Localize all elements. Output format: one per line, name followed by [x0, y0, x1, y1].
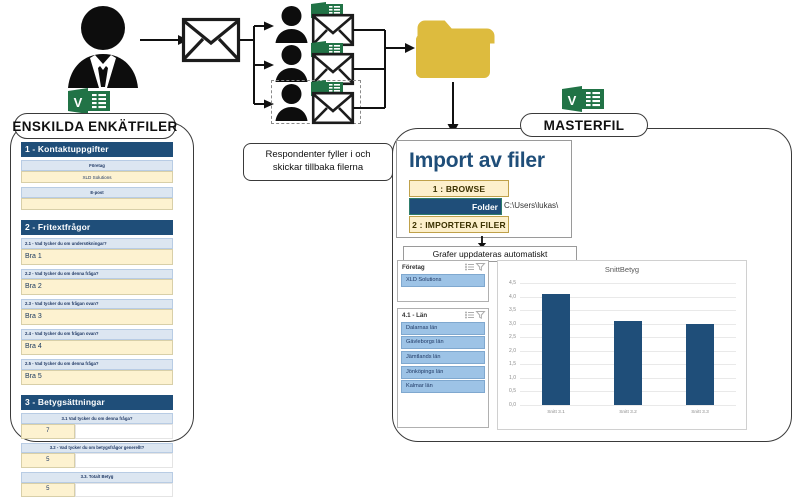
- field-label-foretag: Företag: [21, 160, 173, 171]
- form-field-3-2: 3.2 - Vad tycker du om betygsfrågor gene…: [21, 443, 173, 468]
- chart-x-tick: Snitt 3.2: [592, 410, 664, 415]
- form-field-2-4: 2.4 - Vad tycker du om frågan ovan? Bra …: [21, 329, 173, 355]
- chart-y-tick: 4,0: [500, 294, 516, 300]
- field-label-epost: E-post: [21, 187, 173, 198]
- flow-caption-line1: Respondenter fyller i och: [248, 149, 388, 162]
- field-value-3-2[interactable]: 5: [21, 453, 75, 467]
- survey-form: 1 - Kontaktuppgifter Företag XLD Solutio…: [21, 142, 173, 497]
- slicer-lan-title: 4.1 - Län: [402, 312, 463, 319]
- chart-bar[interactable]: [614, 321, 643, 405]
- chart-gridline: [520, 405, 736, 406]
- recipient-1: [275, 5, 308, 43]
- right-panel-excel-file-icon: V: [562, 86, 604, 112]
- field-spacer-3-2: [75, 453, 173, 467]
- folder-icon: [414, 16, 492, 84]
- form-field-2-1: 2.1 - Vad tycker du om undersökningar? B…: [21, 238, 173, 264]
- recipient-3: [275, 83, 308, 121]
- chart-y-tick: 1,0: [500, 375, 516, 381]
- flow-arrow-sender-to-mail: [140, 34, 188, 46]
- form-field-foretag: Företag XLD Solutions: [21, 160, 173, 183]
- snittbetyg-chart[interactable]: SnittBetyg 0,00,51,01,52,02,53,03,54,04,…: [497, 260, 747, 430]
- chart-y-tick: 2,0: [500, 348, 516, 354]
- field-label-2-1: 2.1 - Vad tycker du om undersökningar?: [21, 238, 173, 249]
- import-files-button[interactable]: 2 : IMPORTERA FILER: [409, 216, 509, 233]
- chart-bar[interactable]: [542, 294, 571, 405]
- slicer-item-kalmar-lan[interactable]: Kalmar län: [401, 380, 485, 393]
- slicer-lan[interactable]: 4.1 - Län Dalarnas län Gävleborgs län Jä…: [397, 308, 489, 428]
- diagram-canvas: Respondenter fyller i och skickar tillba…: [0, 0, 800, 451]
- form-field-epost: E-post: [21, 187, 173, 210]
- slicer-item-dalarnas-lan[interactable]: Dalarnas län: [401, 322, 485, 335]
- chart-x-tick: Snitt 3.1: [520, 410, 592, 415]
- outgoing-envelope-icon: [182, 18, 240, 62]
- field-spacer-3-3: [75, 483, 173, 497]
- right-panel-badge-label: MASTERFIL: [544, 118, 625, 133]
- form-field-2-3: 2.3 - Vad tycker du om frågan ovan? Bra …: [21, 299, 173, 325]
- chart-plot-area: [520, 283, 736, 405]
- right-panel-badge: MASTERFIL: [520, 113, 648, 137]
- field-value-2-1[interactable]: Bra 1: [21, 249, 173, 264]
- import-title: Import av filer: [397, 141, 571, 178]
- svg-text:V: V: [74, 95, 83, 110]
- chart-x-tick: Snitt 3.3: [664, 410, 736, 415]
- recipient-2: [275, 44, 308, 82]
- field-label-3-1: 3.1 Vad tycker du om denna fråga?: [21, 413, 173, 424]
- form-section-header-1: 1 - Kontaktuppgifter: [21, 142, 173, 157]
- form-field-3-3: 3.3. Totalt Betyg 5: [21, 472, 173, 497]
- field-label-3-2: 3.2 - Vad tycker du om betygsfrågor gene…: [21, 443, 173, 454]
- folder-label: Folder: [409, 198, 502, 215]
- chart-y-tick: 4,5: [500, 280, 516, 286]
- left-panel-badge: ENSKILDA ENKÄTFILER: [14, 113, 176, 139]
- multi-select-icon[interactable]: [465, 263, 474, 271]
- svg-text:V: V: [568, 93, 577, 108]
- flow-merge-connector: [353, 18, 415, 110]
- form-field-2-2: 2.2 - Vad tycker du om denna fråga? Bra …: [21, 269, 173, 295]
- chart-y-tick: 3,0: [500, 321, 516, 327]
- multi-select-icon[interactable]: [465, 311, 474, 319]
- form-field-2-5: 2.5 - Vad tycker du om denna fråga? Bra …: [21, 359, 173, 385]
- chart-y-tick: 0,0: [500, 402, 516, 408]
- field-spacer-3-1: [75, 424, 173, 438]
- chart-gridline: [520, 283, 736, 284]
- field-value-2-3[interactable]: Bra 3: [21, 309, 173, 324]
- form-field-3-1: 3.1 Vad tycker du om denna fråga? 7: [21, 413, 173, 438]
- field-value-foretag[interactable]: XLD Solutions: [21, 171, 173, 183]
- flow-arrow-folder-to-import: [446, 82, 460, 134]
- field-value-2-2[interactable]: Bra 2: [21, 279, 173, 294]
- field-label-2-3: 2.3 - Vad tycker du om frågan ovan?: [21, 299, 173, 310]
- form-section-header-2: 2 - Fritextfrågor: [21, 220, 173, 235]
- chart-y-tick: 0,5: [500, 388, 516, 394]
- flow-caption-line2: skickar tillbaka filerna: [248, 162, 388, 175]
- flow-caption: Respondenter fyller i och skickar tillba…: [243, 143, 393, 181]
- sender-person-icon: [62, 4, 144, 96]
- slicer-item-jonkopings-lan[interactable]: Jönköpings län: [401, 366, 485, 379]
- slicer-item-jamtlands-lan[interactable]: Jämtlands län: [401, 351, 485, 364]
- slicer-foretag-title: Företag: [402, 264, 463, 271]
- field-value-3-1[interactable]: 7: [21, 424, 75, 438]
- field-label-3-3: 3.3. Totalt Betyg: [21, 472, 173, 483]
- import-card: Import av filer 1 : BROWSE Folder C:\Use…: [396, 140, 572, 238]
- slicer-item-xld-solutions[interactable]: XLD Solutions: [401, 274, 485, 287]
- clear-filter-icon[interactable]: [476, 263, 485, 271]
- field-label-2-5: 2.5 - Vad tycker du om denna fråga?: [21, 359, 173, 370]
- chart-y-tick: 3,5: [500, 307, 516, 313]
- field-value-epost[interactable]: [21, 198, 173, 210]
- chart-title: SnittBetyg: [498, 261, 746, 274]
- chart-bar[interactable]: [686, 324, 715, 405]
- slicer-item-gavleborgs-lan[interactable]: Gävleborgs län: [401, 336, 485, 349]
- field-label-2-4: 2.4 - Vad tycker du om frågan ovan?: [21, 329, 173, 340]
- clear-filter-icon[interactable]: [476, 311, 485, 319]
- field-value-2-5[interactable]: Bra 5: [21, 370, 173, 385]
- left-panel-excel-file-icon: V: [68, 88, 110, 114]
- chart-y-tick: 1,5: [500, 361, 516, 367]
- left-panel-badge-label: ENSKILDA ENKÄTFILER: [12, 119, 177, 134]
- recipient-3-envelope-icon: [312, 92, 354, 124]
- flow-branch-connector: [240, 18, 274, 110]
- chart-y-tick: 2,5: [500, 334, 516, 340]
- field-value-3-3[interactable]: 5: [21, 483, 75, 497]
- field-label-2-2: 2.2 - Vad tycker du om denna fråga?: [21, 269, 173, 280]
- field-value-2-4[interactable]: Bra 4: [21, 340, 173, 355]
- slicer-foretag[interactable]: Företag XLD Solutions: [397, 260, 489, 302]
- form-section-header-3: 3 - Betygsättningar: [21, 395, 173, 410]
- folder-path-value[interactable]: C:\Users\lukas\: [502, 198, 558, 215]
- browse-button[interactable]: 1 : BROWSE: [409, 180, 509, 197]
